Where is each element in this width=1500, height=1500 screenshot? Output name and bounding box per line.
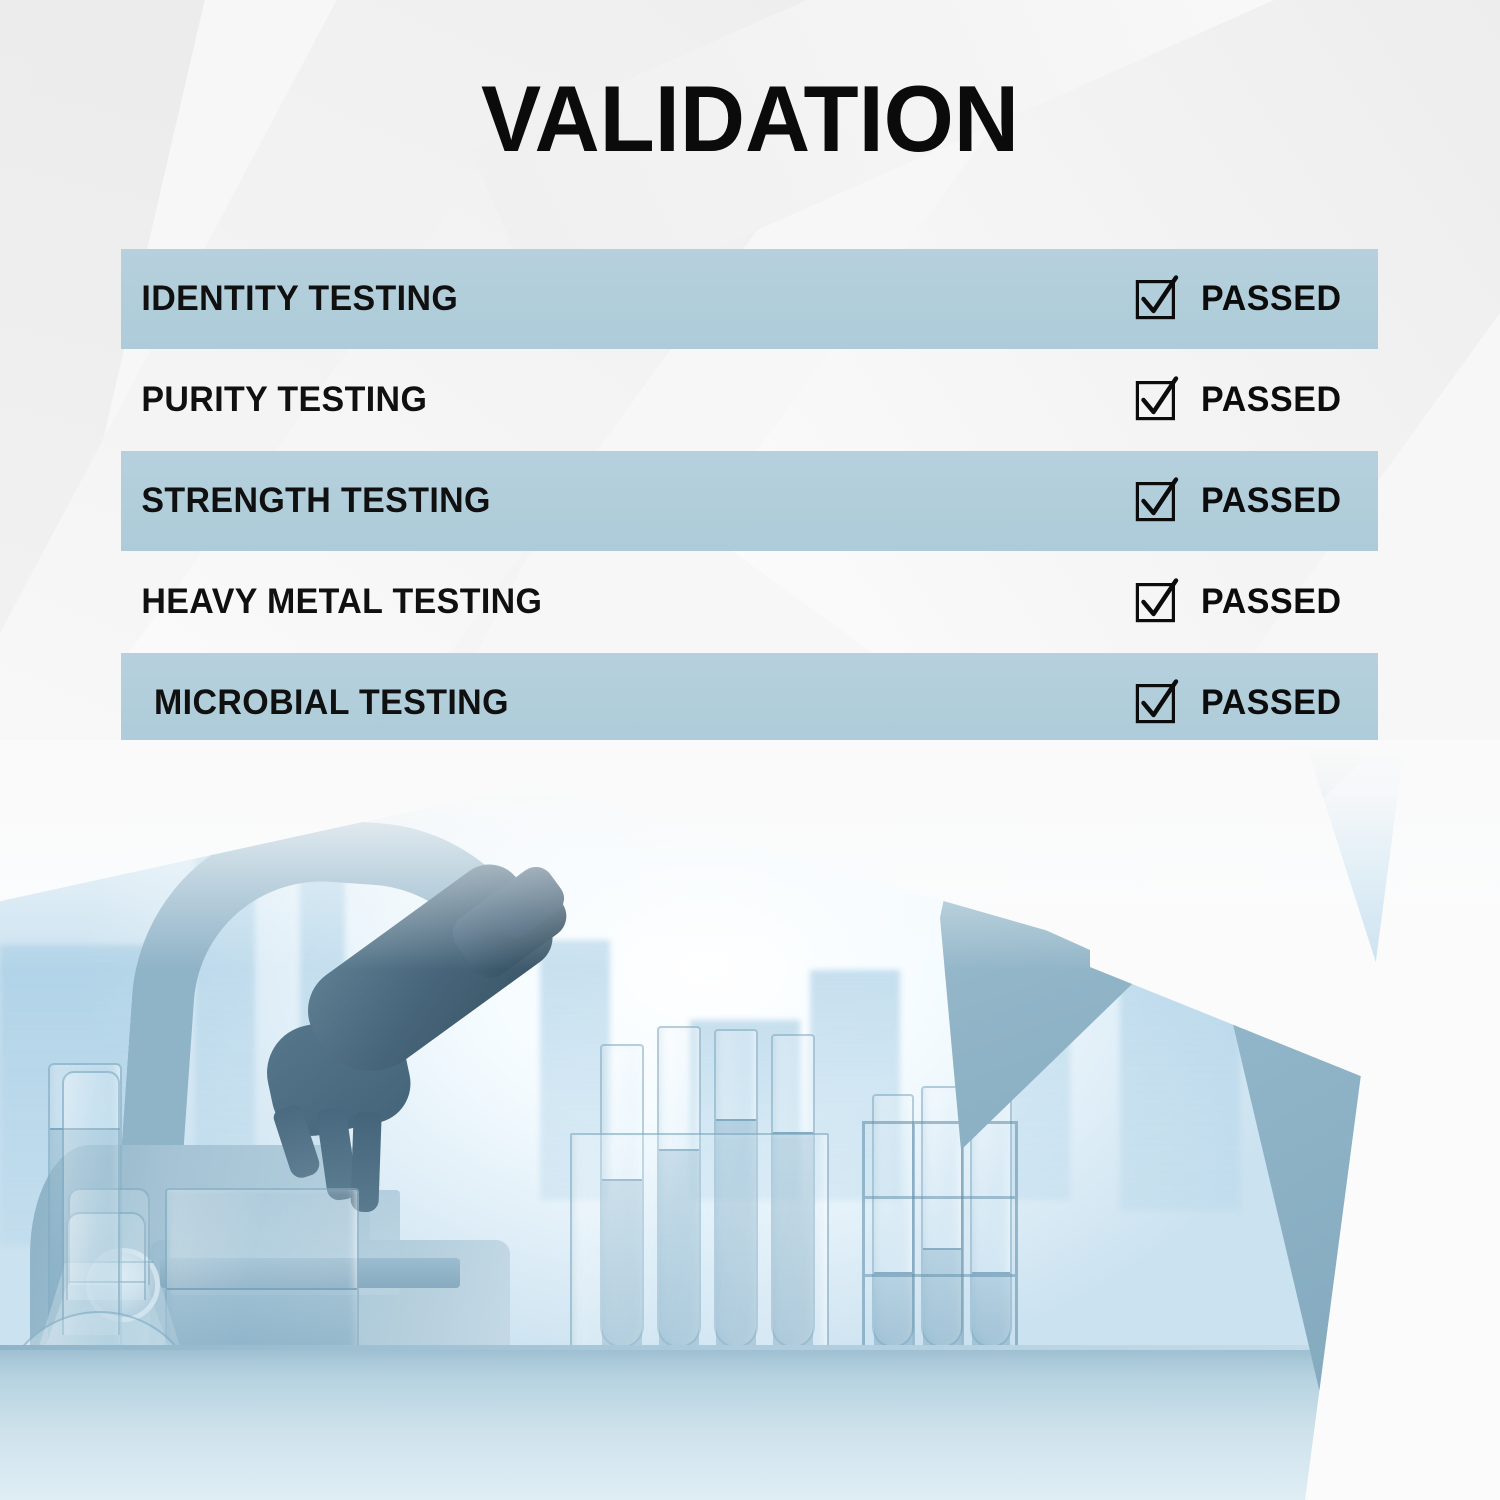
checklist-row-label: PURITY TESTING xyxy=(121,380,427,420)
checklist-row-label: IDENTITY TESTING xyxy=(121,279,458,319)
test-tube-beaker-holder xyxy=(570,1133,829,1352)
validation-graphic: VALIDATION IDENTITY TESTINGPASSEDPURITY … xyxy=(0,0,1500,1500)
checked-box-icon[interactable] xyxy=(1135,579,1181,625)
checklist-row-status: PASSED xyxy=(1135,377,1346,423)
checked-box-icon[interactable] xyxy=(1135,478,1181,524)
status-badge: PASSED xyxy=(1201,582,1342,622)
checked-box-icon[interactable] xyxy=(1135,377,1181,423)
page-title: VALIDATION xyxy=(30,72,1470,166)
status-badge: PASSED xyxy=(1201,279,1342,319)
checklist-row[interactable]: PURITY TESTINGPASSED xyxy=(121,350,1378,450)
photo-top-fade xyxy=(0,740,1500,970)
checklist-row-status: PASSED xyxy=(1135,478,1346,524)
checklist-row-status: PASSED xyxy=(1135,579,1346,625)
checked-box-icon[interactable] xyxy=(1135,680,1181,726)
checked-box-icon[interactable] xyxy=(1135,276,1181,322)
validation-checklist: IDENTITY TESTINGPASSEDPURITY TESTINGPASS… xyxy=(121,249,1378,754)
checklist-row[interactable]: MICROBIAL TESTINGPASSED xyxy=(121,653,1378,753)
status-badge: PASSED xyxy=(1201,380,1342,420)
status-badge: PASSED xyxy=(1201,481,1342,521)
checklist-row-label: MICROBIAL TESTING xyxy=(121,683,509,723)
checklist-row-status: PASSED xyxy=(1135,680,1346,726)
test-tube-rack xyxy=(862,1121,1018,1352)
checklist-row-status: PASSED xyxy=(1135,276,1346,322)
checklist-row[interactable]: STRENGTH TESTINGPASSED xyxy=(121,451,1378,551)
bench-surface xyxy=(0,1350,1500,1500)
beaker xyxy=(165,1188,359,1352)
checklist-row[interactable]: IDENTITY TESTINGPASSED xyxy=(121,249,1378,349)
lab-photograph xyxy=(0,740,1500,1500)
checklist-row-label: HEAVY METAL TESTING xyxy=(121,582,542,622)
status-badge: PASSED xyxy=(1201,683,1342,723)
checklist-row[interactable]: HEAVY METAL TESTINGPASSED xyxy=(121,552,1378,652)
checklist-row-label: STRENGTH TESTING xyxy=(121,481,491,521)
